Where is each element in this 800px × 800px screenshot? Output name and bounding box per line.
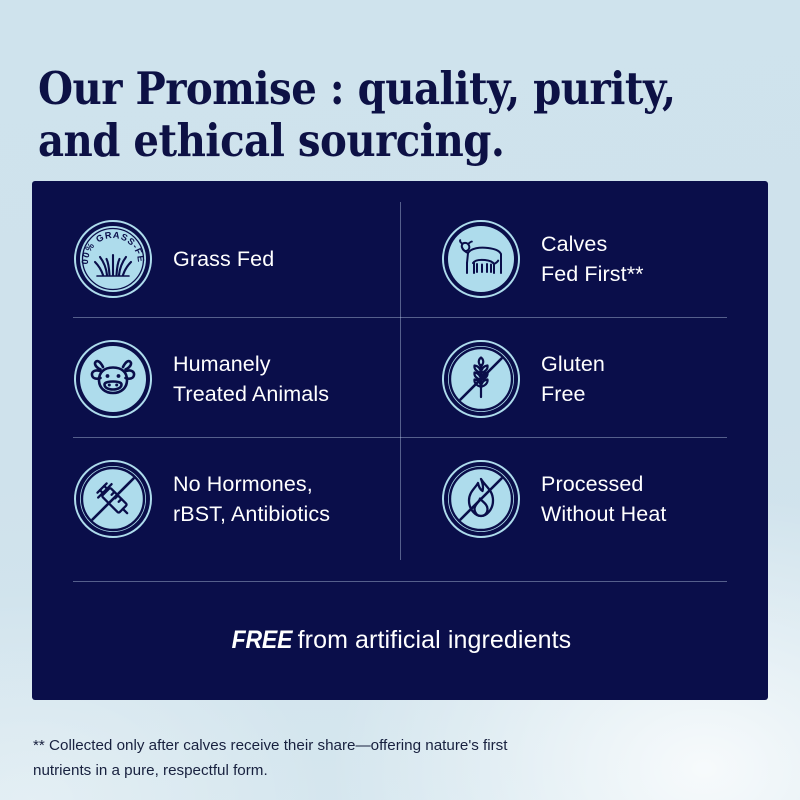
feature-label: Gluten Free xyxy=(541,349,605,409)
feature-item-processed-without-heat: Processed Without Heat xyxy=(441,454,768,544)
feature-item-calves-fed-first: Calves Fed First** xyxy=(441,214,768,304)
grass-fed-badge-icon: 100% GRASS-FED xyxy=(73,219,153,299)
promise-infographic: Our Promise : quality, purity, and ethic… xyxy=(0,0,800,800)
feature-grid: 100% GRASS-FED xyxy=(32,181,768,581)
feature-item-no-hormones: No Hormones, rBST, Antibiotics xyxy=(73,454,403,544)
feature-label: Processed Without Heat xyxy=(541,469,666,529)
free-claim-emphasis: FREE xyxy=(231,626,292,655)
feature-label: Calves Fed First** xyxy=(541,229,644,289)
feature-label: Humanely Treated Animals xyxy=(173,349,329,409)
feature-item-humanely-treated: Humanely Treated Animals xyxy=(73,334,403,424)
grid-horizontal-divider-2 xyxy=(73,437,727,438)
cow-face-icon xyxy=(73,339,153,419)
grid-horizontal-divider-1 xyxy=(73,317,727,318)
free-claim: FREE from artificial ingredients xyxy=(32,581,768,700)
no-syringe-icon xyxy=(73,459,153,539)
feature-label: No Hormones, rBST, Antibiotics xyxy=(173,469,330,529)
page-title: Our Promise : quality, purity, and ethic… xyxy=(38,63,700,167)
feature-item-grass-fed: 100% GRASS-FED xyxy=(73,214,403,304)
no-wheat-icon xyxy=(441,339,521,419)
promise-panel: 100% GRASS-FED xyxy=(32,181,768,700)
free-claim-rest: from artificial ingredients xyxy=(298,626,572,655)
feature-label: Grass Fed xyxy=(173,244,274,274)
no-flame-icon xyxy=(441,459,521,539)
feature-item-gluten-free: Gluten Free xyxy=(441,334,768,424)
footnote: ** Collected only after calves receive t… xyxy=(33,733,673,783)
cow-with-calf-icon xyxy=(441,219,521,299)
